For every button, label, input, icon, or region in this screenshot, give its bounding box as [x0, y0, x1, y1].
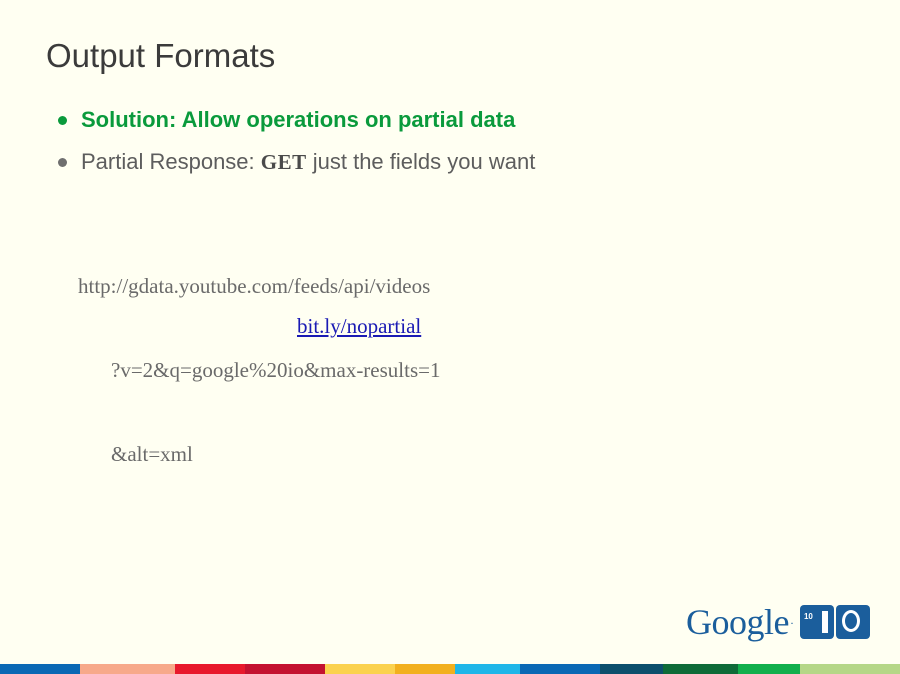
stripe-segment-blue	[0, 664, 80, 674]
url-line-alt: &alt=xml	[78, 440, 440, 468]
url-line-base: http://gdata.youtube.com/feeds/api/video…	[78, 272, 440, 300]
url-example-block: http://gdata.youtube.com/feeds/api/video…	[78, 216, 440, 524]
trademark-dot-icon: ·	[790, 616, 794, 631]
io-badge-right	[836, 605, 870, 639]
list-item: Solution: Allow operations on partial da…	[58, 106, 858, 134]
slide-canvas: Output Formats Solution: Allow operation…	[0, 0, 900, 674]
bullet-dot-icon	[58, 116, 67, 125]
stripe-segment-cyan	[455, 664, 520, 674]
list-item: Partial Response: GET just the fields yo…	[58, 148, 858, 176]
google-wordmark: Google	[686, 604, 789, 640]
page-title: Output Formats	[46, 37, 275, 75]
letter-i-icon	[822, 611, 828, 633]
io-badge-left: 10	[800, 605, 834, 639]
stripe-segment-green	[738, 664, 800, 674]
stripe-segment-blue-2	[520, 664, 600, 674]
stripe-segment-dark-green	[663, 664, 738, 674]
stripe-segment-navy-teal	[600, 664, 663, 674]
bullet-text-after: just the fields you want	[307, 149, 536, 174]
url-line-query: ?v=2&q=google%20io&max-results=1	[78, 356, 440, 384]
http-verb-get: GET	[261, 150, 307, 174]
stripe-segment-salmon	[80, 664, 175, 674]
letter-o-icon	[842, 610, 860, 632]
bullet-item-partial-response-label: Partial Response: GET just the fields yo…	[81, 148, 535, 176]
short-link-nopartial[interactable]: bit.ly/nopartial	[297, 313, 421, 339]
google-io-logo: Google · 10	[686, 600, 870, 644]
footer-color-stripe	[0, 664, 900, 674]
io-badge-icon: 10	[800, 605, 870, 639]
stripe-segment-light-green	[800, 664, 900, 674]
stripe-segment-amber	[395, 664, 455, 674]
bullet-dot-icon	[58, 158, 67, 167]
stripe-segment-red	[175, 664, 245, 674]
bullet-list: Solution: Allow operations on partial da…	[58, 106, 858, 190]
bullet-text-before: Partial Response:	[81, 149, 261, 174]
stripe-segment-dark-red	[245, 664, 325, 674]
badge-year-label: 10	[804, 613, 813, 621]
stripe-segment-light-yellow	[325, 664, 395, 674]
bullet-item-solution-label: Solution: Allow operations on partial da…	[81, 106, 515, 134]
